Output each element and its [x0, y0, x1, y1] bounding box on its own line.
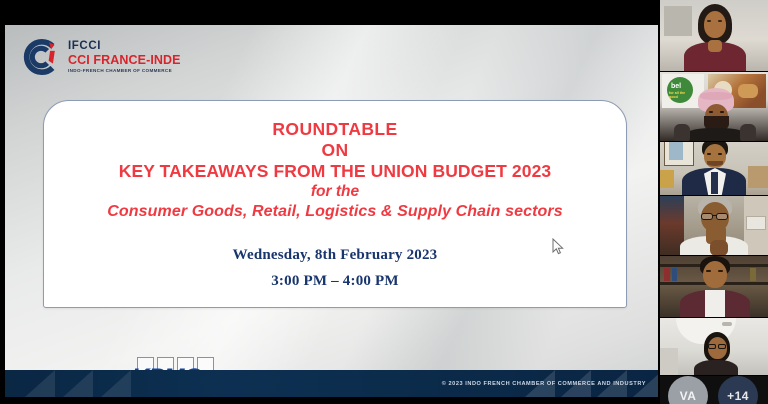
participant-tile-3[interactable]	[660, 142, 768, 196]
title-line-for-the: for the	[44, 183, 626, 201]
event-time: 3:00 PM – 4:00 PM	[44, 273, 626, 290]
avatar-initials[interactable]: VA	[668, 376, 708, 404]
slide-copyright: © 2023 INDO FRENCH CHAMBER OF COMMERCE A…	[442, 381, 646, 387]
ifcci-logo-wordmark: IFCCI CCI FRANCE-INDE INDO-FRENCH CHAMBE…	[68, 40, 181, 74]
title-line-on: ON	[44, 140, 626, 161]
participant-tile-6[interactable]	[660, 318, 768, 376]
presentation-slide: IFCCI CCI FRANCE-INDE INDO-FRENCH CHAMBE…	[5, 25, 658, 397]
avatar-overflow-count[interactable]: +14	[718, 376, 758, 404]
title-line-key-takeaways: KEY TAKEAWAYS FROM THE UNION BUDGET 2023	[44, 161, 626, 182]
slide-footer-band: © 2023 INDO FRENCH CHAMBER OF COMMERCE A…	[5, 370, 658, 397]
logo-line-ifcci: IFCCI	[68, 41, 181, 53]
participant-tile-2[interactable]: bel for all thegood	[660, 72, 768, 142]
title-line-sectors: Consumer Goods, Retail, Logistics & Supp…	[44, 203, 626, 222]
ifcci-monogram-icon	[23, 38, 61, 76]
participant-tile-1[interactable]	[660, 0, 768, 72]
participant-tile-4[interactable]	[660, 196, 768, 256]
participant-avatar-row[interactable]: VA +14	[660, 376, 768, 404]
logo-line-cci-france-inde: CCI FRANCE-INDE	[68, 54, 181, 67]
participant-filmstrip[interactable]: bel for all thegood	[660, 0, 768, 404]
logo-line-chamber: INDO-FRENCH CHAMBER OF COMMERCE	[68, 69, 181, 74]
ifcci-logo: IFCCI CCI FRANCE-INDE INDO-FRENCH CHAMBE…	[23, 38, 181, 76]
mouse-pointer-arrow-icon	[552, 238, 564, 255]
shared-screen-stage[interactable]: IFCCI CCI FRANCE-INDE INDO-FRENCH CHAMBE…	[0, 0, 660, 404]
title-line-roundtable: ROUNDTABLE	[44, 119, 626, 140]
video-call-window: IFCCI CCI FRANCE-INDE INDO-FRENCH CHAMBE…	[0, 0, 768, 404]
slide-content-card: ROUNDTABLE ON KEY TAKEAWAYS FROM THE UNI…	[43, 100, 627, 308]
event-date: Wednesday, 8th February 2023	[44, 247, 626, 264]
participant-tile-5[interactable]	[660, 256, 768, 318]
